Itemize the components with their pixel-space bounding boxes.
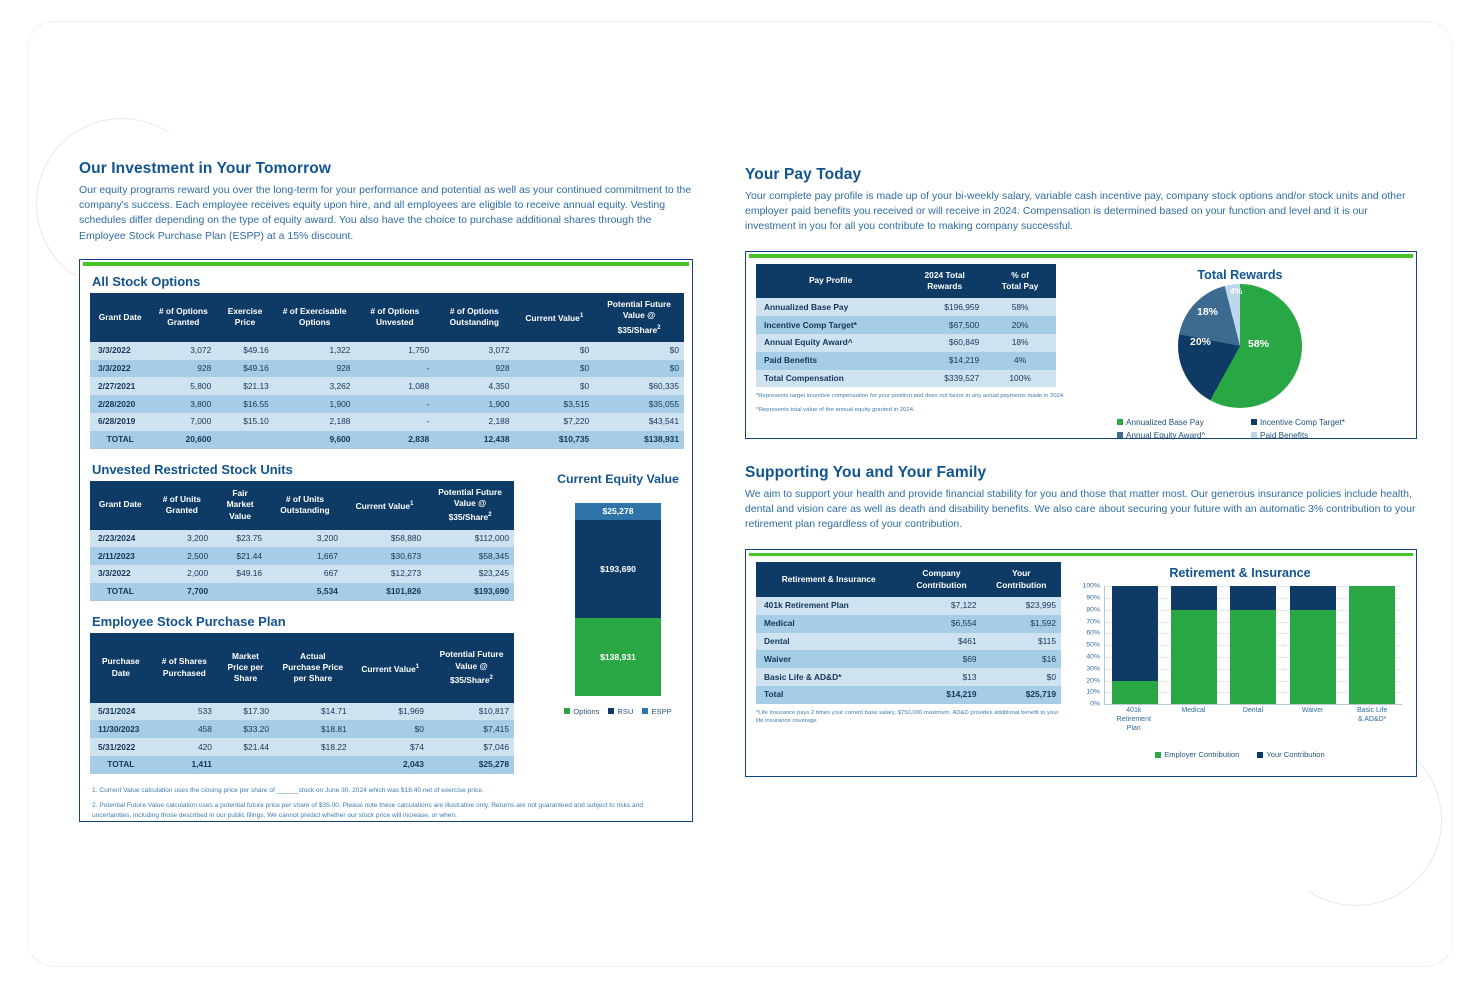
col-current-value: Current Value1 [343,481,426,530]
col-company-contribution: CompanyContribution [901,562,981,597]
stacked-bar: $25,278 $193,690 $138,931 [575,503,661,696]
table-row: 401k Retirement Plan$7,122$23,995 [756,597,1061,615]
investment-heading: Our Investment in Your Tomorrow [79,160,693,178]
chart-title: Current Equity Value [554,472,682,487]
col-grant-date: Grant Date [90,481,151,530]
table-row: Medical$6,554$1,592 [756,615,1061,633]
footnote-2: 2. Potential Future Value calculation us… [92,801,680,820]
table-header-row: Grant Date # of Options Granted Exercise… [90,293,684,342]
legend-swatch-icon [1251,419,1257,425]
table-header-row: Grant Date # of Units Granted FairMarket… [90,481,514,530]
legend-item-your: Your Contribution [1257,750,1324,759]
y-tick: 70% [1086,618,1100,625]
stock-options-table: Grant Date # of Options Granted Exercise… [90,293,684,449]
table-row: 2/11/20232,500$21.441,667$30,673$58,345 [90,547,514,565]
table-row: 3/3/2022928$49.16928-928$0$0 [90,360,684,378]
legend-swatch-icon [1251,432,1257,438]
table-total-row: TOTAL20,6009,6002,83812,438$10,735$138,9… [90,431,684,449]
chart-legend: Annualized Base Pay Incentive Comp Targe… [1074,418,1406,440]
pay-heading: Your Pay Today [745,166,1417,184]
table-row: 6/28/20197,000$15.102,188-2,188$7,220$43… [90,413,684,431]
col-fair-market-value: FairMarketValue [213,481,267,530]
col-potential-future-value: Potential FutureValue @$35/Share2 [426,481,514,530]
y-tick: 30% [1086,665,1100,672]
x-tick: Dental [1223,706,1283,733]
espp-table: PurchaseDate # of Shares Purchased Marke… [90,633,514,774]
table-row: Annualized Base Pay$196,95958% [756,298,1056,316]
espp-body: 5/31/2024533$17.30$14.71$1,969$10,817 11… [90,703,514,774]
col-exercise-price: Exercise Price [216,293,274,342]
legend-swatch-icon [1155,752,1161,758]
bar-segment-espp: $25,278 [575,503,661,520]
y-tick: 80% [1086,606,1100,613]
table-row: 2/27/20215,800$21.133,2621,0884,350$0$60… [90,377,684,395]
rsu-table: Grant Date # of Units Granted FairMarket… [90,481,514,601]
pay-profile-body: Annualized Base Pay$196,95958% Incentive… [756,298,1056,387]
bar-basic-life [1349,586,1395,704]
col-potential-future-value: Potential FutureValue @$35/Share2 [594,293,684,342]
y-tick: 100% [1083,583,1100,590]
family-heading: Supporting You and Your Family [745,464,1417,482]
retirement-footnote: *Life Insurance pays 2 times your curren… [756,709,1066,726]
table-row: 11/30/2023458$33.20$18.81$0$7,415 [90,720,514,738]
table-row: Waiver$69$16 [756,650,1061,668]
col-market-price: MarketPrice perShare [217,633,274,703]
table-row: 5/31/2024533$17.30$14.71$1,969$10,817 [90,703,514,721]
bar-segment-rsu: $193,690 [575,520,661,618]
retirement-panel: Retirement & Insurance CompanyContributi… [745,549,1417,777]
y-tick: 10% [1086,689,1100,696]
legend-swatch-icon [608,708,614,714]
legend-item-benefits: Paid Benefits [1251,431,1363,440]
x-axis-labels: 401kRetirementPlan Medical Dental Waiver… [1104,706,1402,733]
current-equity-value-chart: Current Equity Value $25,278 $193,690 $1… [554,472,682,716]
bar-segment-options: $138,931 [575,618,661,696]
legend-swatch-icon [1117,419,1123,425]
table-header-row: Retirement & Insurance CompanyContributi… [756,562,1061,597]
table-header-row: PurchaseDate # of Shares Purchased Marke… [90,633,514,703]
col-your-contribution: YourContribution [982,562,1061,597]
x-tick: Medical [1164,706,1224,733]
col-grant-date: Grant Date [90,293,150,342]
family-intro: We aim to support your health and provid… [745,487,1417,533]
table-row: 5/31/2022420$21.44$18.22$74$7,046 [90,738,514,756]
legend-item-incentive: Incentive Comp Target* [1251,418,1363,427]
bar-medical [1171,586,1217,704]
table-total-row: TOTAL1,4112,043$25,278 [90,756,514,774]
pay-footnote-1: *Represents target incentive compensatio… [756,392,1066,400]
total-rewards-chart: Total Rewards 58% 20% 18% 4% Annualized … [1074,264,1406,440]
pay-profile-block: Pay Profile 2024 TotalRewards % ofTotal … [756,264,1066,440]
bar-401k [1112,586,1158,704]
table-row: Annual Equity Award^$60,84918% [756,334,1056,352]
table-row: Incentive Comp Target*$67,50020% [756,316,1056,334]
table-total-row: Total$14,219$25,719 [756,686,1061,704]
investment-intro: Our equity programs reward you over the … [79,183,693,244]
pay-profile-table: Pay Profile 2024 TotalRewards % ofTotal … [756,264,1056,388]
legend-swatch-icon [642,708,648,714]
table-row: 3/3/20223,072$49.161,3221,7503,072$0$0 [90,342,684,360]
x-tick: Waiver [1283,706,1343,733]
pie-label-equity: 18% [1197,306,1218,318]
retirement-table-block: Retirement & Insurance CompanyContributi… [756,562,1066,759]
rsu-body: 2/23/20243,200$23.753,200$58,880$112,000… [90,530,514,601]
x-tick: 401kRetirementPlan [1104,706,1164,733]
col-exercisable-options: # of Exercisable Options [274,293,356,342]
bar-waiver [1290,586,1336,704]
col-actual-purchase-price: ActualPurchase Priceper Share [274,633,352,703]
legend-swatch-icon [1117,432,1123,438]
table-header-row: Pay Profile 2024 TotalRewards % ofTotal … [756,264,1056,299]
table-row: Basic Life & AD&D*$13$0 [756,668,1061,686]
stock-options-title: All Stock Options [92,274,682,289]
col-units-outstanding: # of Units Outstanding [267,481,343,530]
stock-options-body: 3/3/20223,072$49.161,3221,7503,072$0$0 3… [90,342,684,449]
pay-panel: Pay Profile 2024 TotalRewards % ofTotal … [745,251,1417,439]
pay-footnote-2: ^Represents total value of the annual eq… [756,406,1066,414]
y-axis: 100% 90% 80% 70% 60% 50% 40% 30% 20% 10%… [1074,586,1102,704]
col-current-value: Current Value1 [514,293,594,342]
legend-item-options: Options [564,707,599,716]
col-options-granted: # of Options Granted [150,293,216,342]
y-tick: 0% [1090,701,1100,708]
y-tick: 60% [1086,630,1100,637]
col-purchase-date: PurchaseDate [90,633,152,703]
pie-label-incentive: 20% [1190,336,1211,348]
footnote-1: 1. Current Value calculation uses the cl… [92,786,680,796]
table-row: 2/28/20203,800$16.551,900-1,900$3,515$35… [90,395,684,413]
chart-title: Retirement & Insurance [1074,566,1406,580]
legend-swatch-icon [564,708,570,714]
table-row: Dental$461$115 [756,633,1061,651]
col-options-unvested: # of Options Unvested [355,293,434,342]
table-row: 2/23/20243,200$23.753,200$58,880$112,000 [90,530,514,548]
col-pay-profile: Pay Profile [756,264,905,299]
legend-item-rsu: RSU [608,707,633,716]
legend-item-employer: Employer Contribution [1155,750,1239,759]
retirement-body: 401k Retirement Plan$7,122$23,995 Medica… [756,597,1061,704]
col-current-value: Current Value1 [352,633,429,703]
equity-column: Our Investment in Your Tomorrow Our equi… [79,160,693,822]
pie-label-base-pay: 58% [1248,338,1269,350]
plot-area [1104,586,1402,705]
table-row: Paid Benefits$14,2194% [756,352,1056,370]
chart-legend: Employer Contribution Your Contribution [1074,750,1406,759]
col-options-outstanding: # of Options Outstanding [434,293,514,342]
table-row: 3/3/20222,000$49.16667$12,273$23,245 [90,565,514,583]
legend-item-espp: ESPP [642,707,671,716]
pie-chart: 58% 20% 18% 4% [1178,284,1302,408]
y-tick: 90% [1086,595,1100,602]
chart-legend: Options RSU ESPP [554,707,682,716]
col-retirement-insurance: Retirement & Insurance [756,562,901,597]
y-tick: 40% [1086,654,1100,661]
col-percent-total-pay: % ofTotal Pay [984,264,1056,299]
table-row: Total Compensation$339,527100% [756,370,1056,388]
col-units-granted: # of Units Granted [151,481,214,530]
pay-intro: Your complete pay profile is made up of … [745,189,1417,235]
bar-dental [1230,586,1276,704]
chart-title: Total Rewards [1074,268,1406,282]
col-potential-future-value: Potential FutureValue @$35/Share2 [429,633,514,703]
col-shares-purchased: # of Shares Purchased [152,633,217,703]
equity-panel: All Stock Options Grant Date # of Option… [79,259,693,822]
legend-item-equity: Annual Equity Award^ [1117,431,1229,440]
retirement-table: Retirement & Insurance CompanyContributi… [756,562,1061,704]
x-tick: Basic Life& AD&D* [1342,706,1402,733]
retirement-insurance-chart: Retirement & Insurance 100% 90% 80% 70% … [1074,562,1406,759]
pay-column: Your Pay Today Your complete pay profile… [745,166,1417,777]
legend-item-base-pay: Annualized Base Pay [1117,418,1229,427]
table-total-row: TOTAL7,7005,534$101,826$193,690 [90,583,514,601]
pie-label-benefits: 4% [1230,286,1242,296]
y-tick: 50% [1086,642,1100,649]
col-2024-total-rewards: 2024 TotalRewards [905,264,984,299]
y-tick: 20% [1086,677,1100,684]
legend-swatch-icon [1257,752,1263,758]
